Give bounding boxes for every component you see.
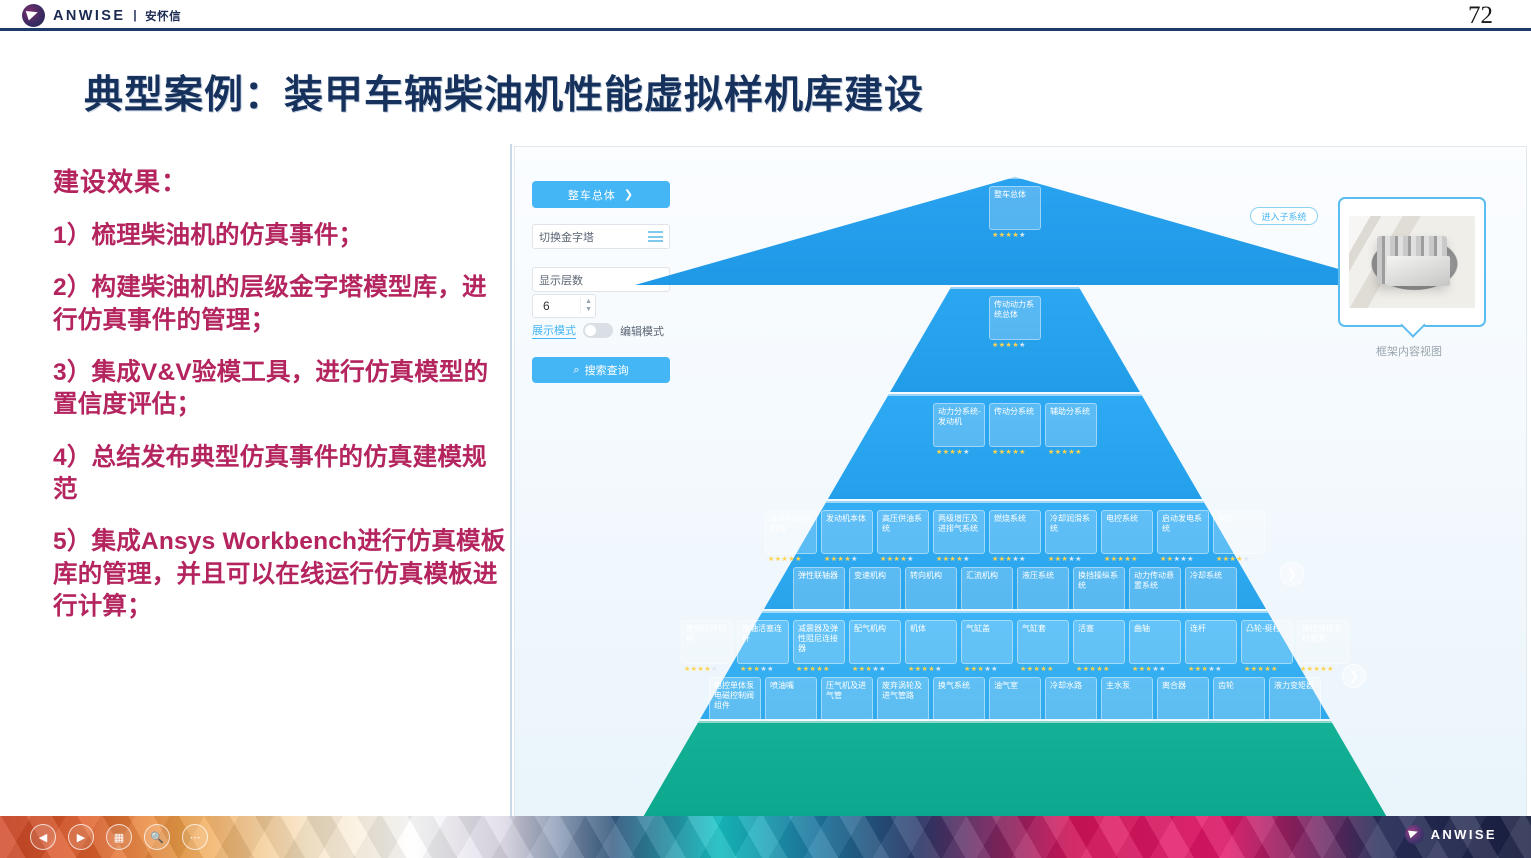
page-number: 72 [1468,2,1493,30]
pyramid-node-label: 曲轴 [1129,620,1181,664]
pyramid-node-label: 换气系统 [933,677,985,721]
pyramid-tier-nodes: 曲柄连杆机构★★★★★曲轴活塞连杆★★★★★减震器及弹性阻尼连接器★★★★★配气… [669,611,1361,719]
pyramid-node-label: 液力变矩器 [1269,677,1321,721]
column-divider [510,144,512,824]
top-bar: ANWISE | 安怀信 72 [0,0,1531,31]
pyramid-node-label: 曲轴活塞连杆 [737,620,789,664]
brand-logo: ANWISE | 安怀信 [22,4,181,27]
enter-subsystem-badge[interactable]: 进入子系统 [1250,207,1318,225]
pyramid-node-label: 发动机运动机构 [765,510,817,554]
pyramid-node[interactable]: 凸轮-挺柱★★★★★ [1241,620,1293,673]
chevron-right-icon: ❯ [624,188,634,201]
stepper-arrows-icon[interactable]: ▲ ▼ [580,298,592,314]
search-button-label: 搜索查询 [585,362,629,378]
pyramid-node[interactable]: 传动分系统★★★★★ [989,403,1041,456]
pyramid-node[interactable]: 机体★★★★★ [905,620,957,673]
layers-label: 显示层数 [539,272,583,288]
bullet-item-2: 2）构建柴油机的层级金字塔模型库，进行仿真事件的管理； [53,272,508,337]
anwise-logo-icon [22,4,45,27]
pyramid-node-label: 冷却系统 [1185,567,1237,611]
slide-body: 典型案例：装甲车辆柴油机性能虚拟样机库建设 建设效果： 1）梳理柴油机的仿真事件… [0,34,1531,816]
pyramid-node[interactable]: 高压供油系统★★★★★ [877,510,929,563]
pyramid-node-rating: ★★★★★ [1045,448,1097,456]
taskbar-decoration [0,816,1531,858]
brand-cn-text: 安怀信 [145,8,181,24]
pyramid-tier-nodes: 整车总体★★★★★ [977,177,1053,285]
stepper-up-icon[interactable]: ▲ [585,298,592,306]
pyramid-node-rating: ★★★★★ [849,665,901,673]
pyramid-tier-5: 曲柄连杆机构★★★★★曲轴活塞连杆★★★★★减震器及弹性阻尼连接器★★★★★配气… [635,611,1395,719]
pyramid-node-label: 弹性联轴器 [793,567,845,611]
pyramid-node-rating: ★★★★★ [1073,665,1125,673]
pyramid-node-label: 电控单体泵柱塞泵 [1297,620,1349,664]
pyramid-node[interactable]: 辅助分系统★★★★★ [1045,403,1097,456]
pyramid-tier-nodes: 发动机运动机构★★★★★发动机本体★★★★★高压供油系统★★★★★两级增压及进排… [753,501,1277,609]
pyramid-node-label: 转向机构 [905,567,957,611]
pyramid-node-label: 冷却润滑系统 [1045,510,1097,554]
pyramid-tier-1: 整车总体★★★★★ [635,177,1395,285]
pyramid-node-rating: ★★★★★ [877,555,929,563]
pyramid-node-label: 传动分系统 [989,403,1041,447]
pyramid-node-label: 液压系统 [1017,567,1069,611]
pyramid-node-label: 箱体 [1213,510,1265,554]
anwise-footer-logo-icon [1405,825,1424,844]
pyramid-node-label: 换挡操纵系统 [1073,567,1125,611]
pyramid-node-label: 压气机及进气管 [821,677,873,721]
pyramid-node-rating: ★★★★★ [1185,665,1237,673]
bullet-item-3: 3）集成V&V验模工具，进行仿真模型的置信度评估； [53,357,508,422]
pyramid-nav-right-1[interactable]: ❯ [1280,562,1304,586]
pyramid-node-rating: ★★★★★ [933,448,985,456]
pyramid-node[interactable]: 燃烧系统★★★★★ [989,510,1041,563]
pyramid-node-rating: ★★★★★ [1129,665,1181,673]
pyramid-node[interactable]: 减震器及弹性阻尼连接器★★★★★ [793,620,845,673]
brand-latin-text: ANWISE [53,8,125,24]
pyramid-node[interactable]: 气缸套★★★★★ [1017,620,1069,673]
pyramid-node-label: 辅助分系统 [1045,403,1097,447]
pyramid-node-rating: ★★★★★ [961,665,1013,673]
pyramid-node-label: 喷油嘴 [765,677,817,721]
pyramid-node-rating: ★★★★★ [793,665,845,673]
pyramid-node-label: 齿轮 [1213,677,1265,721]
pyramid-node-label: 离合器 [1157,677,1209,721]
pyramid-node-label: 高压供油系统 [877,510,929,554]
pyramid-node[interactable]: 两级增压及进排气系统★★★★★ [933,510,985,563]
pyramid-node-rating: ★★★★★ [989,341,1041,349]
pyramid-node-rating: ★★★★★ [1241,665,1293,673]
pyramid-node-label: 凸轮-挺柱 [1241,620,1293,664]
zoom-button[interactable]: 🔍 [144,824,170,850]
pyramid-node-label: 两级增压及进排气系统 [933,510,985,554]
pyramid-node[interactable]: 电控单体泵柱塞泵★★★★★ [1297,620,1349,673]
next-slide-button[interactable]: ▶ [68,824,94,850]
pyramid-node-label: 机体 [905,620,957,664]
pyramid-node-rating: ★★★★★ [989,448,1041,456]
whole-vehicle-label: 整车总体 [568,187,616,203]
pyramid-node-label: 曲柄连杆机构 [681,620,733,664]
bullet-item-1: 1）梳理柴油机的仿真事件； [53,220,508,252]
display-mode-label[interactable]: 展示模式 [532,322,576,339]
pyramid-tier-6 [635,721,1395,824]
pyramid-node[interactable]: 曲柄连杆机构★★★★★ [681,620,733,673]
pyramid-node-label: 减震器及弹性阻尼连接器 [793,620,845,664]
pyramid-node-label: 气缸盖 [961,620,1013,664]
pyramid-node-label: 传动动力系统总体 [989,296,1041,340]
pyramid-node-label: 废弃涡轮及进气管路 [877,677,929,721]
pyramid-node[interactable]: 气缸盖★★★★★ [961,620,1013,673]
pyramid-node-label: 整车总体 [989,186,1041,230]
frame-caption: 框架内容视图 [1314,343,1504,359]
bullet-column: 建设效果： 1）梳理柴油机的仿真事件； 2）构建柴油机的层级金字塔模型库，进行仿… [53,162,508,643]
bullet-item-4: 4）总结发布典型仿真事件的仿真建模规范 [53,442,508,507]
pyramid-node[interactable]: 曲轴★★★★★ [1129,620,1181,673]
pyramid-node-label: 电控单体泵电磁控制阀组件 [709,677,761,721]
mode-toggle-switch[interactable] [583,323,613,338]
pyramid-node-rating: ★★★★★ [681,665,733,673]
pyramid-node-label: 配气机构 [849,620,901,664]
pyramid-node-label: 动力传动悬置系统 [1129,567,1181,611]
bullets-heading: 建设效果： [53,162,508,199]
pyramid-node[interactable]: 活塞★★★★★ [1073,620,1125,673]
prev-slide-button[interactable]: ◀ [30,824,56,850]
pyramid-node-label: 油气室 [989,677,1041,721]
pyramid-node-rating: ★★★★★ [1045,555,1097,563]
pyramid-node-rating: ★★★★★ [989,231,1041,239]
grid-view-button[interactable]: ▦ [106,824,132,850]
pyramid-switch-label: 切换金字塔 [539,229,594,245]
pyramid-node[interactable]: 传动动力系统总体★★★★★ [989,296,1041,349]
pyramid-node[interactable]: 动力分系统-发动机★★★★★ [933,403,985,456]
pyramid-node-label: 电控系统 [1101,510,1153,554]
pyramid-node-label: 冷却水路 [1045,677,1097,721]
pyramid-node-label: 连杆 [1185,620,1237,664]
pyramid-node-label: 燃烧系统 [989,510,1041,554]
pyramid-node[interactable]: 冷却润滑系统★★★★★ [1045,510,1097,563]
pyramid-node[interactable]: 发动机本体★★★★★ [821,510,873,563]
brand-separator: | [133,10,137,22]
presentation-taskbar: ◀▶▦🔍⋯ ANWISE [0,816,1531,858]
slide-page: ANWISE | 安怀信 72 典型案例：装甲车辆柴油机性能虚拟样机库建设 建设… [0,0,1531,858]
pyramid-nav-right-2[interactable]: ❯ [1342,664,1366,688]
pyramid-tier-nodes: 动力分系统-发动机★★★★★传动分系统★★★★★辅助分系统★★★★★ [921,394,1109,499]
pyramid-node[interactable]: 连杆★★★★★ [1185,620,1237,673]
pyramid-node-label: 汇流机构 [961,567,1013,611]
app-screenshot-region: 整车总体 ❯ 切换金字塔 显示层数 6 ▲ ▼ [514,146,1527,824]
pyramid-node-rating: ★★★★★ [821,555,873,563]
bullet-item-5: 5）集成Ansys Workbench进行仿真模板库的管理，并且可以在线运行仿真… [53,526,508,623]
pyramid-node[interactable]: 箱体★★★★★ [1213,510,1265,563]
pyramid-tier-2: 传动动力系统总体★★★★★ [635,287,1395,392]
pyramid-tier-nodes: 传动动力系统总体★★★★★ [977,287,1053,392]
pyramid-node-rating: ★★★★★ [1213,555,1265,563]
diesel-engine-thumbnail [1349,216,1475,308]
taskbar-brand-text: ANWISE [1431,827,1497,842]
pyramid-node-rating: ★★★★★ [1297,665,1349,673]
pyramid-node-rating: ★★★★★ [933,555,985,563]
pyramid-tier-3: 动力分系统-发动机★★★★★传动分系统★★★★★辅助分系统★★★★★ [635,394,1395,499]
pyramid-node-label: 活塞 [1073,620,1125,664]
stepper-down-icon[interactable]: ▼ [585,306,592,314]
taskbar-brand: ANWISE [1405,825,1497,844]
pyramid-node-label: 气缸套 [1017,620,1069,664]
pyramid-node-label: 发动机本体 [821,510,873,554]
more-options-button[interactable]: ⋯ [182,824,208,850]
search-icon: ⌕ [573,364,579,377]
pyramid-tier-4: 发动机运动机构★★★★★发动机本体★★★★★高压供油系统★★★★★两级增压及进排… [635,501,1395,609]
pyramid-node-label: 启动发电系统 [1157,510,1209,554]
pyramid-node-rating: ★★★★★ [989,555,1041,563]
pyramid-node-rating: ★★★★★ [905,665,957,673]
pyramid-node-rating: ★★★★★ [1101,555,1153,563]
frame-content-panel: 进入子系统 框架内容视图 [1314,197,1504,359]
taskbar-controls: ◀▶▦🔍⋯ [30,824,208,850]
page-title: 典型案例：装甲车辆柴油机性能虚拟样机库建设 [84,64,924,120]
pyramid-node[interactable]: 启动发电系统★★★★★ [1157,510,1209,563]
pyramid-node[interactable]: 发动机运动机构★★★★★ [765,510,817,563]
pyramid-node[interactable]: 配气机构★★★★★ [849,620,901,673]
pyramid-node-label: 动力分系统-发动机 [933,403,985,447]
pyramid-node[interactable]: 电控系统★★★★★ [1101,510,1153,563]
layers-value: 6 [543,299,550,313]
pyramid-node-rating: ★★★★★ [1017,665,1069,673]
pyramid-node[interactable]: 整车总体★★★★★ [989,186,1041,239]
pyramid-node-rating: ★★★★★ [737,665,789,673]
pyramid-tier-slab[interactable] [635,721,1395,824]
pyramid-node-rating: ★★★★★ [765,555,817,563]
pyramid-node-label: 变速机构 [849,567,901,611]
layers-stepper[interactable]: 6 ▲ ▼ [532,294,596,318]
pyramid-node-rating: ★★★★★ [1157,555,1209,563]
frame-content-card[interactable] [1338,197,1486,327]
pyramid-diagram: 整车总体★★★★★传动动力系统总体★★★★★动力分系统-发动机★★★★★传动分系… [635,177,1395,797]
pyramid-node[interactable]: 曲轴活塞连杆★★★★★ [737,620,789,673]
pyramid-node-label: 主水泵 [1101,677,1153,721]
